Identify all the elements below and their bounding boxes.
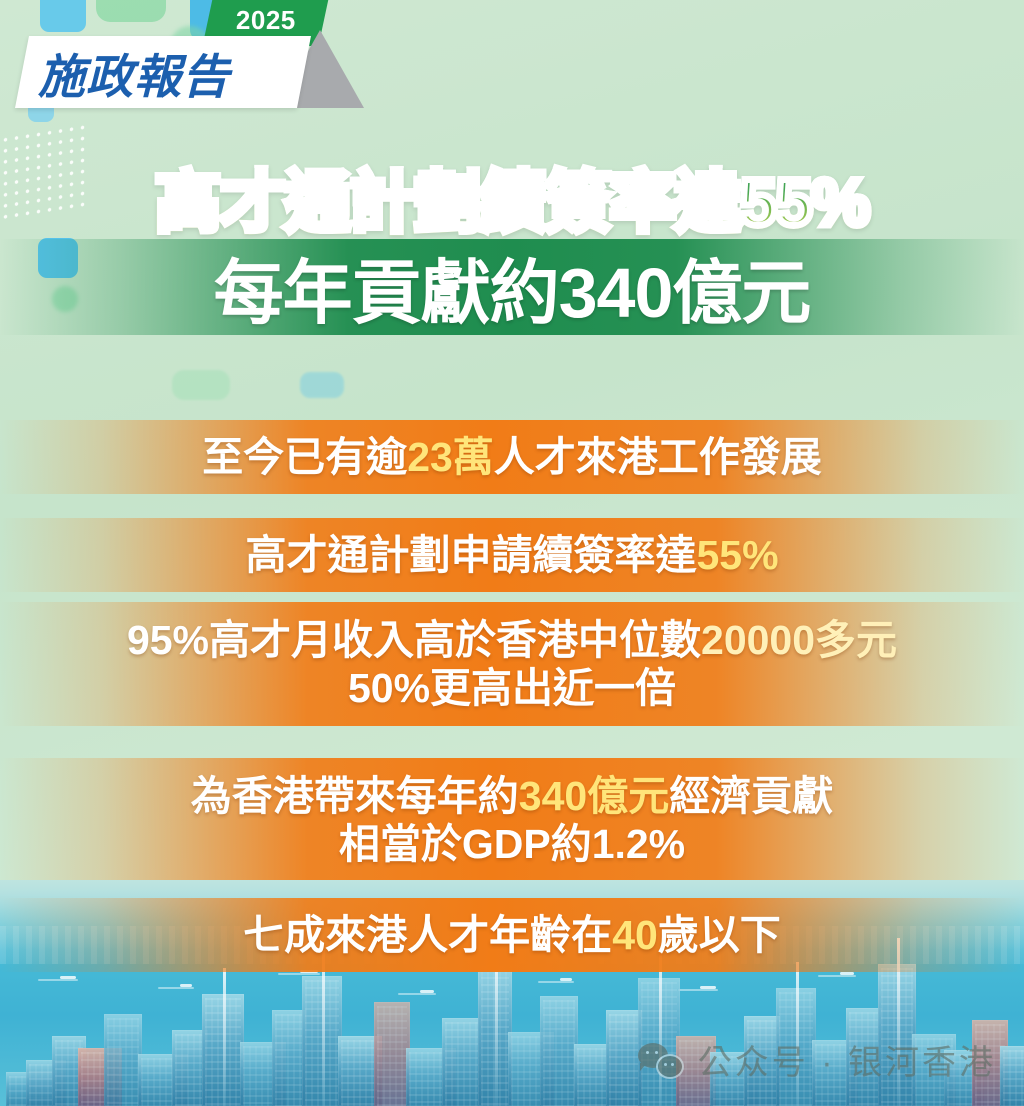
fact-income: 95%高才月收入高於香港中位數20000多元50%更高出近一倍 (0, 602, 1024, 726)
deco-square-green-2 (172, 370, 230, 400)
watermark: 公众号 · 银河香港 (638, 1035, 996, 1084)
wechat-bubble-tail (640, 1063, 647, 1071)
fact-highlight: 340億元 (519, 773, 669, 819)
fact-text: 高才通計劃申請續簽率達 (245, 532, 696, 578)
skyline-building (540, 996, 578, 1106)
fact-gdp-contribution-line-1: 為香港帶來每年約340億元經濟貢獻 (191, 772, 833, 820)
skyline-building (374, 1002, 410, 1106)
fact-highlight: 23萬 (407, 434, 494, 480)
skyline-building (1000, 1046, 1024, 1106)
infographic-poster: 2025 施政報告 高才通計劃續簽率達55% 每年貢獻約340億元 至今已有逾2… (0, 0, 1024, 1106)
fact-talent-arrivals: 至今已有逾23萬人才來港工作發展 (0, 420, 1024, 494)
fact-renewal-rate-line-1: 高才通計劃申請續簽率達55% (245, 531, 778, 579)
fact-age: 七成來港人才年齡在40歲以下 (0, 898, 1024, 972)
fact-gdp-contribution-line-2: 相當於GDP約1.2% (339, 820, 685, 868)
skyline-building (104, 1014, 142, 1106)
skyline-building (442, 1018, 482, 1106)
fact-text: 至今已有逾 (202, 434, 407, 480)
fact-text: 95%高才月收入高於香港中位數 (127, 617, 701, 663)
fact-text: 50%更高出近一倍 (348, 665, 676, 711)
skyline-building (272, 1010, 306, 1106)
poster-header: 2025 施政報告 (0, 0, 1024, 130)
wechat-icon (638, 1043, 684, 1077)
fact-income-line-1: 95%高才月收入高於香港中位數20000多元 (127, 616, 897, 664)
headline-line-2: 每年貢獻約340億元 (214, 237, 811, 338)
fact-talent-arrivals-line-1: 至今已有逾23萬人才來港工作發展 (202, 433, 822, 481)
watermark-label: 公众号 · 银河香港 (698, 1035, 996, 1084)
fact-text: 相當於GDP約1.2% (339, 821, 685, 867)
headline-line-2-band: 每年貢獻約340億元 (0, 239, 1024, 335)
fact-highlight: 55% (696, 532, 778, 578)
fact-income-line-2: 50%更高出近一倍 (348, 664, 676, 712)
fact-text: 經濟貢獻 (669, 773, 833, 819)
fact-renewal-rate: 高才通計劃申請續簽率達55% (0, 518, 1024, 592)
fact-text: 人才來港工作發展 (494, 434, 822, 480)
page-title: 施政報告 (38, 38, 300, 106)
skyline-spire (796, 962, 799, 1106)
wechat-bubble-small (656, 1054, 684, 1079)
fact-text: 七成來港人才年齡在 (243, 912, 612, 958)
fact-gdp-contribution: 為香港帶來每年約340億元經濟貢獻相當於GDP約1.2% (0, 758, 1024, 882)
skyline-building (606, 1010, 642, 1106)
skyline-spire (223, 968, 226, 1106)
headline-block: 高才通計劃續簽率達55% 每年貢獻約340億元 (0, 168, 1024, 335)
fact-highlight: 40 (612, 912, 658, 958)
fact-age-line-1: 七成來港人才年齡在40歲以下 (243, 911, 781, 959)
deco-square-blue-5 (300, 372, 344, 398)
fact-highlight: 20000多元 (701, 617, 897, 663)
skyline-spire (322, 950, 325, 1106)
fact-text: 為香港帶來每年約 (191, 773, 519, 819)
headline-line-1: 高才通計劃續簽率達55% (0, 168, 1024, 237)
fact-text: 歲以下 (658, 912, 781, 958)
